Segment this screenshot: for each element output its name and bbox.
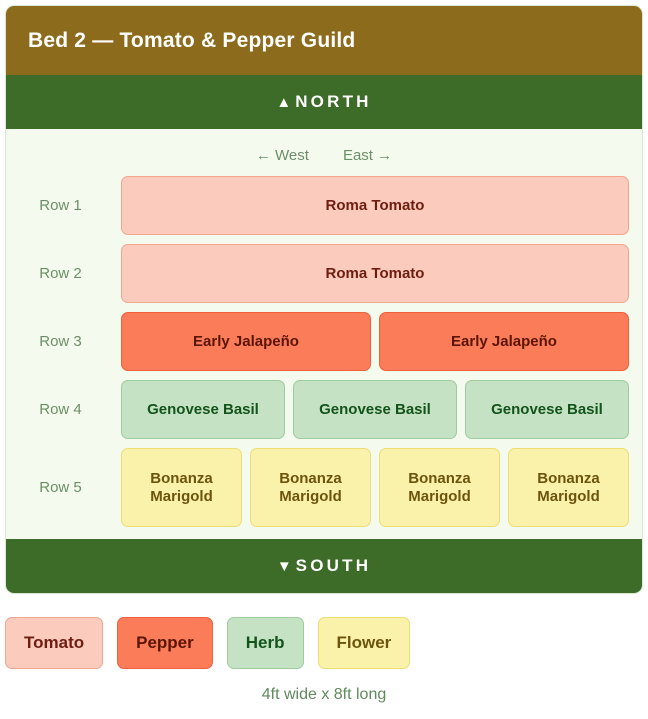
plant-cell-tomato[interactable]: Roma Tomato <box>121 176 629 235</box>
planting-row: Row 3Early JalapeñoEarly Jalapeño <box>6 312 629 371</box>
north-band: ▲NORTH <box>6 75 642 129</box>
row-cells: Roma Tomato <box>121 176 629 235</box>
row-cells: Early JalapeñoEarly Jalapeño <box>121 312 629 371</box>
plant-cell-flower[interactable]: Bonanza Marigold <box>379 448 500 527</box>
planting-grid: Row 1Roma TomatoRow 2Roma TomatoRow 3Ear… <box>6 176 642 527</box>
north-arrow-icon: ▲ <box>276 94 291 111</box>
row-label: Row 3 <box>6 312 121 371</box>
plant-cell-tomato[interactable]: Roma Tomato <box>121 244 629 303</box>
row-label: Row 5 <box>6 448 121 527</box>
plant-cell-pepper[interactable]: Early Jalapeño <box>379 312 629 371</box>
bed-dimensions-caption: 4ft wide x 8ft long <box>0 686 648 704</box>
row-cells: Roma Tomato <box>121 244 629 303</box>
row-label: Row 2 <box>6 244 121 303</box>
west-label: ← West <box>256 147 309 164</box>
plant-cell-herb[interactable]: Genovese Basil <box>293 380 457 439</box>
row-cells: Genovese BasilGenovese BasilGenovese Bas… <box>121 380 629 439</box>
south-arrow-icon: ▼ <box>277 558 292 575</box>
plant-cell-herb[interactable]: Genovese Basil <box>465 380 629 439</box>
legend-chip-tomato[interactable]: Tomato <box>5 617 103 669</box>
east-label: East → <box>343 147 392 164</box>
page-title: Bed 2 — Tomato & Pepper Guild <box>28 29 355 52</box>
garden-bed-card: Bed 2 — Tomato & Pepper Guild ▲NORTH ← W… <box>5 5 643 594</box>
plant-cell-flower[interactable]: Bonanza Marigold <box>508 448 629 527</box>
row-cells: Bonanza MarigoldBonanza MarigoldBonanza … <box>121 448 629 527</box>
north-label: NORTH <box>295 92 371 111</box>
east-west-orientation: ← West East → <box>6 139 642 176</box>
row-label: Row 4 <box>6 380 121 439</box>
bed-interior: ← West East → Row 1Roma TomatoRow 2Roma … <box>6 129 642 539</box>
legend-chip-pepper[interactable]: Pepper <box>117 617 213 669</box>
planting-row: Row 5Bonanza MarigoldBonanza MarigoldBon… <box>6 448 629 527</box>
plant-cell-flower[interactable]: Bonanza Marigold <box>121 448 242 527</box>
plant-cell-pepper[interactable]: Early Jalapeño <box>121 312 371 371</box>
legend-chip-flower[interactable]: Flower <box>318 617 411 669</box>
row-label: Row 1 <box>6 176 121 235</box>
planting-row: Row 1Roma Tomato <box>6 176 629 235</box>
planting-row: Row 4Genovese BasilGenovese BasilGenoves… <box>6 380 629 439</box>
legend-chip-herb[interactable]: Herb <box>227 617 304 669</box>
plant-cell-flower[interactable]: Bonanza Marigold <box>250 448 371 527</box>
bed-title-header: Bed 2 — Tomato & Pepper Guild <box>6 6 642 75</box>
south-label: SOUTH <box>296 556 372 575</box>
plant-cell-herb[interactable]: Genovese Basil <box>121 380 285 439</box>
plant-type-legend: TomatoPepperHerbFlower <box>5 617 410 669</box>
south-band: ▼SOUTH <box>6 539 642 593</box>
planting-row: Row 2Roma Tomato <box>6 244 629 303</box>
